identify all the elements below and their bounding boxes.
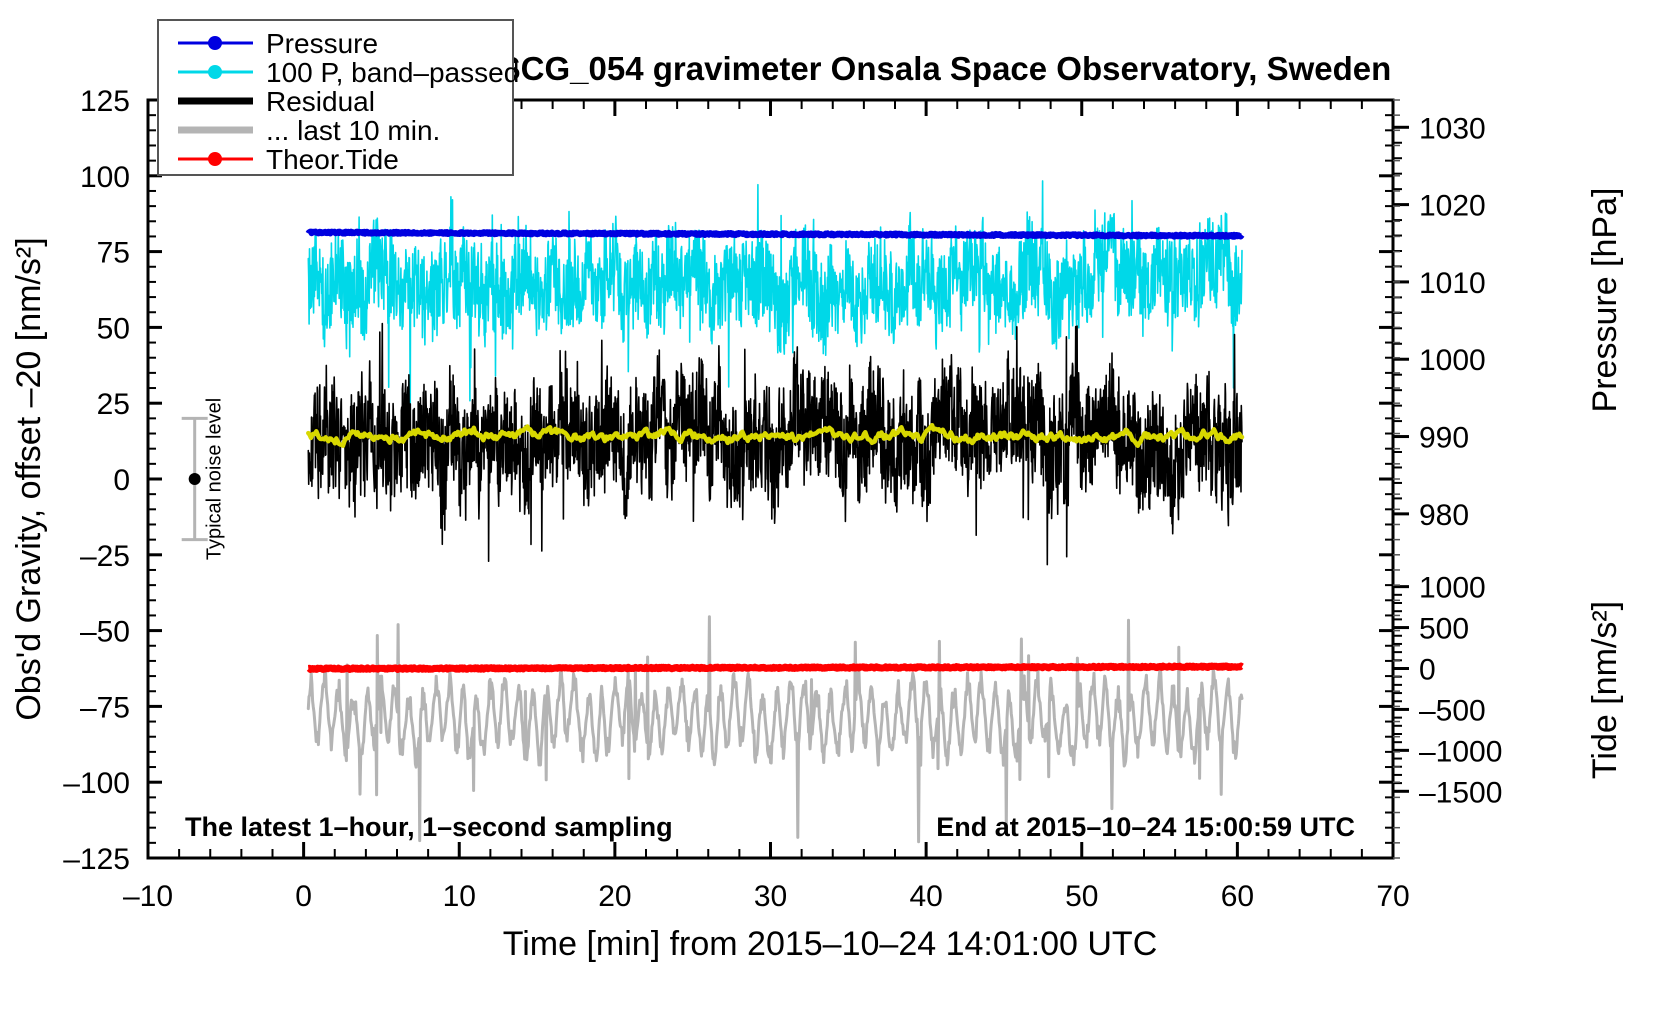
y-axis-right-pressure-tick-label: 990 [1419,422,1469,455]
y-left-tick-label: –100 [63,767,130,800]
y-left-tick-label: 25 [97,388,130,421]
y-left-tick-label: 100 [80,161,130,194]
y-axis-right-pressure-tick-label: 1010 [1419,267,1486,300]
gravimeter-plot-figure: 1251007550250–25–50–75–100–125–100102030… [0,0,1660,1020]
x-tick-label: 60 [1221,880,1254,913]
series-band-passed-pressure [308,181,1242,419]
x-tick-label: 40 [909,880,942,913]
legend-label: Pressure [266,28,378,59]
y-axis-right-pressure: 1030102010101000990980 [1393,112,1486,532]
y-axis-right-pressure-tick-label: 1030 [1419,112,1486,145]
y-axis-right-tide-tick-label: –1000 [1419,735,1502,768]
legend[interactable]: Pressure100 P, band–passedResidual... la… [158,20,519,175]
legend-label: 100 P, band–passed [266,57,519,88]
x-tick-label: 30 [754,880,787,913]
legend-marker [208,152,222,166]
typical-noise-level-marker: Typical noise level [182,398,226,560]
x-tick-label: 10 [443,880,476,913]
y-axis-right-pressure-tick-label: 1000 [1419,344,1486,377]
y-left-tick-label: –25 [80,540,130,573]
series-last-10-min [308,617,1242,842]
legend-label: ... last 10 min. [266,115,440,146]
y-axis-right-tide-tick-label: 500 [1419,613,1469,646]
x-tick-label: 0 [295,880,312,913]
annotation-sampling-note: The latest 1–hour, 1–second sampling [185,812,673,842]
y-left-tick-label: 50 [97,312,130,345]
x-tick-label: 50 [1065,880,1098,913]
chart-title: SCG_054 gravimeter Onsala Space Observat… [499,50,1392,87]
y-left-tick-label: –125 [63,843,130,876]
legend-marker [208,36,222,50]
y-axis-left-title: Obs'd Gravity, offset –20 [nm/s²] [10,237,48,720]
y-axis-right-pressure-tick-label: 980 [1419,499,1469,532]
y-axis-right-tide-title: Tide [nm/s²] [1586,601,1624,779]
legend-marker [208,65,222,79]
x-axis-title: Time [min] from 2015–10–24 14:01:00 UTC [503,925,1158,963]
typical-noise-level-label: Typical noise level [204,398,226,560]
series-residual [308,324,1242,565]
y-axis-right-pressure-title: Pressure [hPa] [1586,188,1624,413]
x-axis: –10010203040506070 [123,100,1410,913]
y-left-tick-label: 75 [97,237,130,270]
y-axis-right-pressure-tick-label: 1020 [1419,190,1486,223]
y-left-tick-label: –50 [80,616,130,649]
x-tick-label: 70 [1376,880,1409,913]
y-axis-right-tide-tick-label: –1500 [1419,776,1502,809]
series-theoretical-tide [308,666,1242,669]
y-axis-right-tide-tick-label: –500 [1419,694,1486,727]
y-left-tick-label: –75 [80,691,130,724]
series-pressure [308,232,1242,237]
x-tick-label: –10 [123,880,173,913]
y-axis-right-tide-tick-label: 1000 [1419,572,1486,605]
y-left-tick-label: 125 [80,85,130,118]
x-tick-label: 20 [598,880,631,913]
legend-label: Theor.Tide [266,144,399,175]
y-left-tick-label: 0 [113,464,130,497]
y-axis-right-tide-tick-label: 0 [1419,654,1436,687]
plot-canvas: 1251007550250–25–50–75–100–125–100102030… [0,0,1660,1020]
y-axis-right-tide: 10005000–500–1000–1500 [1393,572,1502,810]
annotation-end-time: End at 2015–10–24 15:00:59 UTC [936,812,1355,842]
legend-label: Residual [266,86,375,117]
